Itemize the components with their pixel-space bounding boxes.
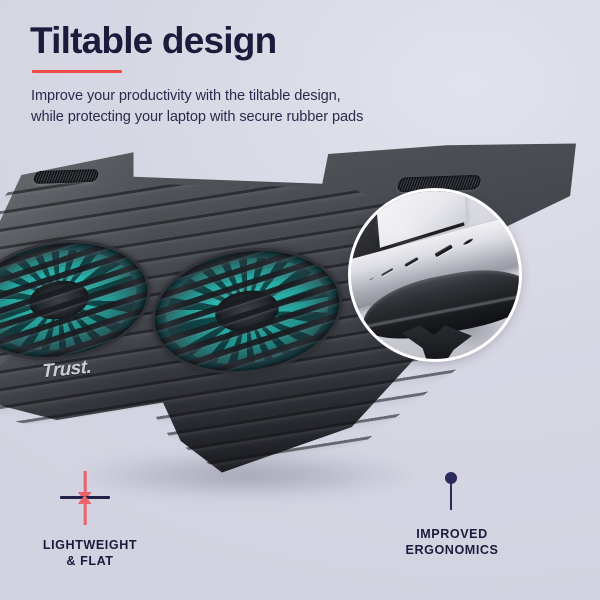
arrow-up-icon	[84, 503, 87, 525]
page-title: Tiltable design	[30, 22, 570, 61]
arrow-down-icon	[84, 471, 87, 493]
feature-label-lightweight: LIGHTWEIGHT & FLAT	[10, 538, 170, 569]
usb-port-icon	[435, 244, 453, 257]
feature-label-lightweight-line-2: & FLAT	[10, 554, 170, 570]
compress-arrows-icon	[58, 470, 112, 526]
pin-dot-icon	[445, 472, 457, 484]
audio-jack-icon	[463, 238, 474, 246]
subtitle: Improve your productivity with the tilta…	[31, 86, 570, 127]
feature-label-ergonomics-line-1: IMPROVED	[372, 527, 532, 543]
rubber-grip-pad-left	[32, 169, 99, 184]
status-led-icon	[370, 277, 375, 281]
detail-callout-circle	[348, 188, 522, 362]
subtitle-line-2: while protecting your laptop with secure…	[31, 107, 570, 128]
mini-displayport-icon	[381, 268, 393, 276]
header: Tiltable design Improve your productivit…	[30, 22, 570, 127]
subtitle-line-1: Improve your productivity with the tilta…	[31, 86, 570, 107]
hdmi-port-icon	[405, 257, 419, 267]
feature-label-ergonomics-line-2: ERGONOMICS	[372, 543, 532, 559]
feature-label-lightweight-line-1: LIGHTWEIGHT	[10, 538, 170, 554]
feature-label-ergonomics: IMPROVED ERGONOMICS	[372, 527, 532, 558]
accent-rule	[32, 70, 122, 73]
product-feature-banner: Tiltable design Improve your productivit…	[0, 0, 600, 600]
pin-stem	[450, 480, 452, 510]
